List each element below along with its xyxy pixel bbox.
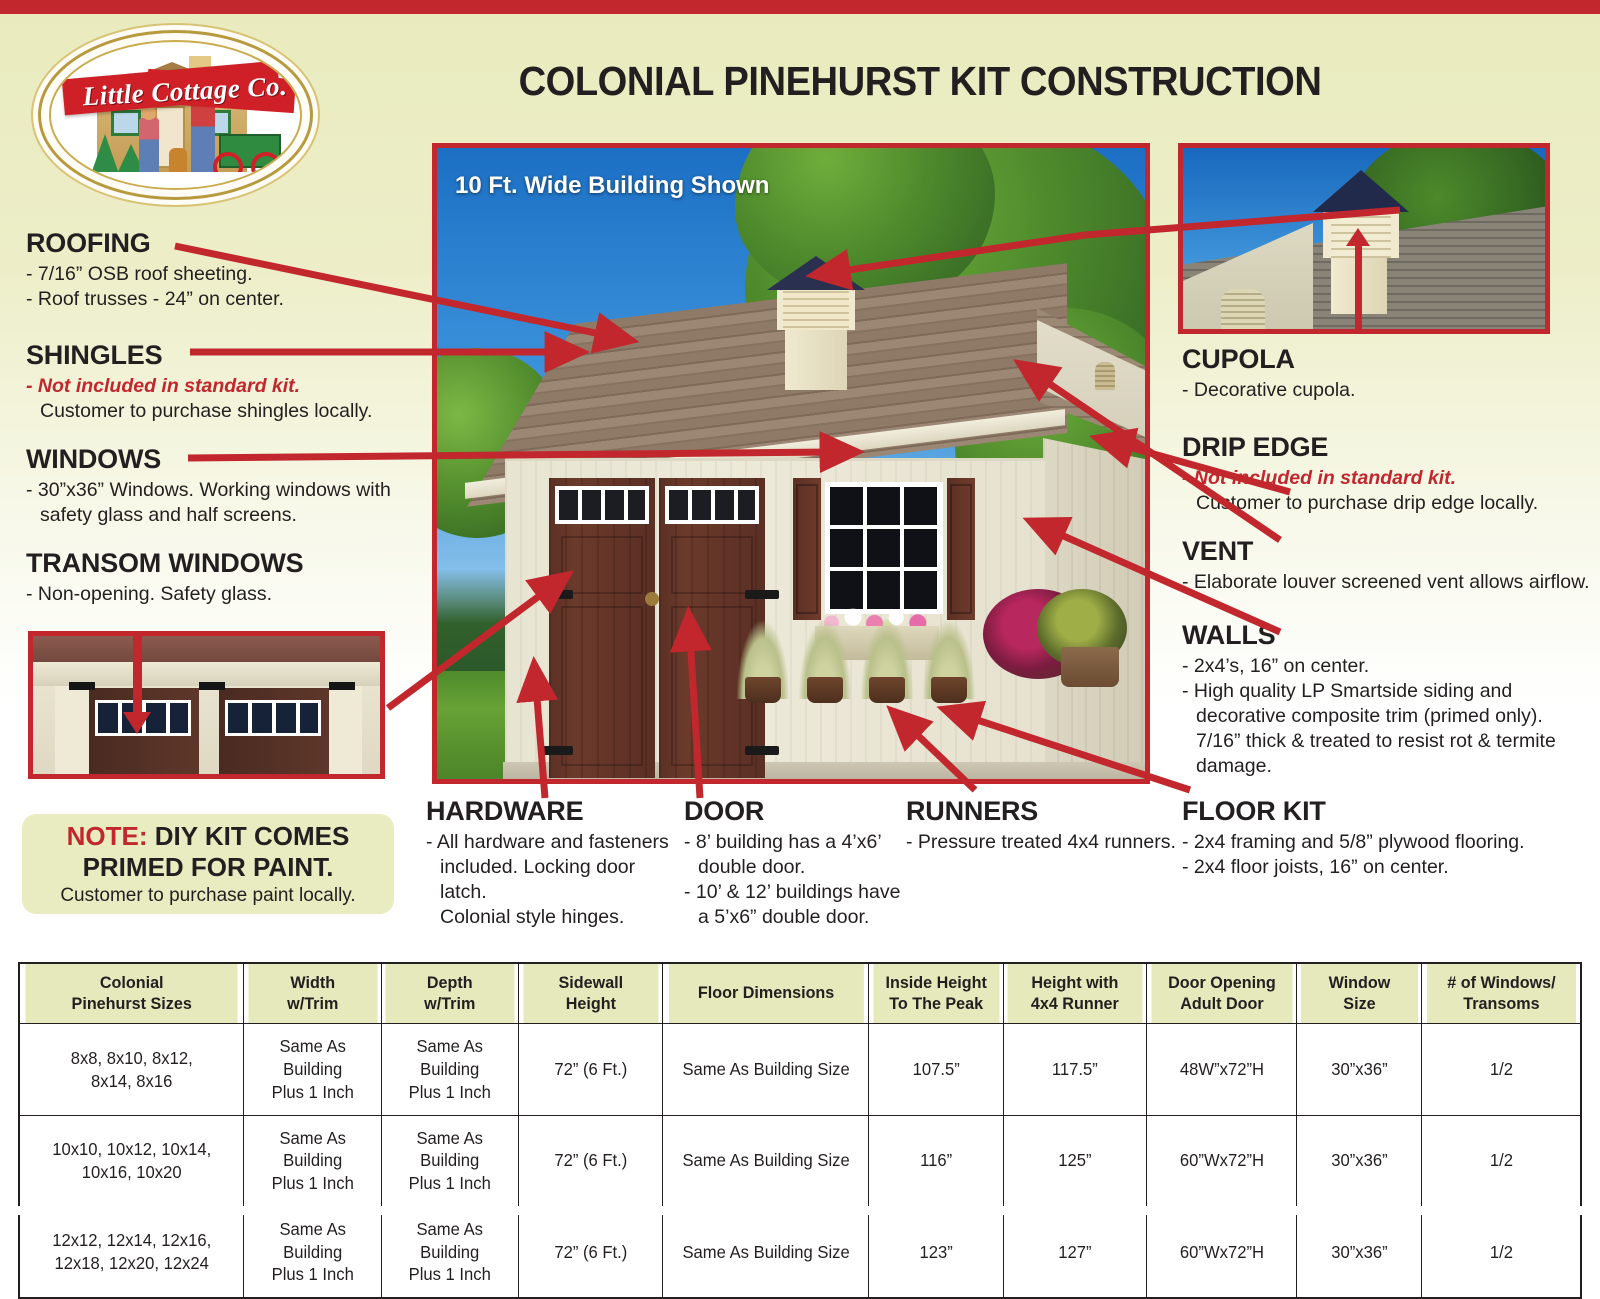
table-header-row: ColonialPinehurst SizesWidthw/TrimDepthw… xyxy=(19,963,1581,1024)
table-cell-r0-c8: 30”x36” xyxy=(1300,1024,1419,1115)
table-cell-r1-c4: Same As Building Size xyxy=(668,1115,864,1206)
callout-transom-windows: TRANSOM WINDOWS - Non-opening. Safety gl… xyxy=(26,548,416,607)
callout-drip-edge: DRIP EDGE - Not included in standard kit… xyxy=(1182,432,1582,516)
double-door xyxy=(549,478,769,778)
table-cell-r1-c8: 30”x36” xyxy=(1300,1115,1419,1206)
working-window xyxy=(825,482,943,614)
gable-louver-vent xyxy=(1095,362,1115,390)
colonial-pinehurst-shed-photo: 10 Ft. Wide Building Shown xyxy=(432,143,1150,784)
table-cell-r1-c0: 10x10, 10x12, 10x14,10x16, 10x20 xyxy=(25,1115,239,1206)
callout-walls: WALLS - 2x4’s, 16” on center. - High qua… xyxy=(1182,620,1582,779)
callout-roofing: ROOFING - 7/16” OSB roof sheeting. - Roo… xyxy=(26,228,406,312)
page-root: Little Cottage Co. COLONIAL PINEHURST KI… xyxy=(0,0,1600,1215)
table-cell-r1-c1: Same As BuildingPlus 1 Inch xyxy=(247,1115,378,1206)
note-headline-2: PRIMED FOR PAINT. xyxy=(83,852,334,883)
table-cell-r2-c9: 1/2 xyxy=(1426,1206,1577,1298)
callout-door: DOOR - 8’ building has a 4’x6’ double do… xyxy=(684,796,914,930)
cupola xyxy=(767,256,865,290)
table-cell-r1-c7: 60”Wx72”H xyxy=(1150,1115,1292,1206)
note-box: NOTE: DIY KIT COMES PRIMED FOR PAINT. Cu… xyxy=(22,814,394,914)
table-header-cell-7: Door OpeningAdult Door xyxy=(1150,963,1292,1024)
page-title: COLONIAL PINEHURST KIT CONSTRUCTION xyxy=(455,58,1385,105)
table-cell-r2-c5: 123” xyxy=(872,1206,1000,1298)
table-header-cell-6: Height with4x4 Runner xyxy=(1007,963,1144,1024)
callout-runners: RUNNERS - Pressure treated 4x4 runners. xyxy=(906,796,1176,855)
table-cell-r1-c9: 1/2 xyxy=(1426,1115,1577,1206)
window-shutter xyxy=(793,478,821,620)
cupola xyxy=(1313,170,1409,212)
note-label: NOTE: xyxy=(67,821,148,851)
table-cell-r0-c7: 48W”x72”H xyxy=(1150,1024,1292,1115)
table-row: 12x12, 12x14, 12x16,12x18, 12x20, 12x24S… xyxy=(19,1206,1581,1298)
transom-window xyxy=(555,486,649,524)
callout-hardware: HARDWARE - All hardware and fasteners in… xyxy=(426,796,676,930)
cupola-closeup-photo xyxy=(1178,143,1550,334)
table-cell-r2-c0: 12x12, 12x14, 12x16,12x18, 12x20, 12x24 xyxy=(25,1206,239,1298)
table-cell-r0-c3: 72” (6 Ft.) xyxy=(522,1024,659,1115)
table-cell-r2-c1: Same As BuildingPlus 1 Inch xyxy=(247,1206,378,1298)
gable-louver-vent xyxy=(1221,289,1265,329)
table-cell-r1-c2: Same As BuildingPlus 1 Inch xyxy=(385,1115,516,1206)
note-headline: NOTE: DIY KIT COMES xyxy=(67,821,350,852)
table-cell-r1-c5: 116” xyxy=(872,1115,1000,1206)
table-cell-r2-c3: 72” (6 Ft.) xyxy=(522,1206,659,1298)
bottom-bar xyxy=(0,1206,1600,1215)
callout-cupola: CUPOLA - Decorative cupola. xyxy=(1182,344,1582,403)
table-cell-r2-c2: Same As BuildingPlus 1 Inch xyxy=(385,1206,516,1298)
table-cell-r0-c6: 117.5” xyxy=(1007,1024,1144,1115)
specifications-table: ColonialPinehurst SizesWidthw/TrimDepthw… xyxy=(18,962,1582,1299)
table-header-cell-1: Widthw/Trim xyxy=(247,963,378,1024)
callout-floor-kit: FLOOR KIT - 2x4 framing and 5/8” plywood… xyxy=(1182,796,1582,880)
cupola-pointer-arrow xyxy=(1355,244,1362,334)
note-headline-text: DIY KIT COMES xyxy=(148,821,350,851)
table-header-cell-5: Inside HeightTo The Peak xyxy=(872,963,1000,1024)
transom-window xyxy=(665,486,759,524)
table-header-cell-4: Floor Dimensions xyxy=(668,963,864,1024)
table-cell-r0-c2: Same As BuildingPlus 1 Inch xyxy=(385,1024,516,1115)
table-cell-r1-c3: 72” (6 Ft.) xyxy=(522,1115,659,1206)
transom-window xyxy=(225,700,321,736)
table-cell-r0-c5: 107.5” xyxy=(872,1024,1000,1115)
door-latch xyxy=(645,592,659,606)
table-cell-r0-c4: Same As Building Size xyxy=(668,1024,864,1115)
transom-pointer-arrow xyxy=(133,631,142,714)
table-row: 10x10, 10x12, 10x14,10x16, 10x20Same As … xyxy=(19,1115,1581,1206)
table-header-cell-2: Depthw/Trim xyxy=(385,963,516,1024)
callout-shingles: SHINGLES - Not included in standard kit.… xyxy=(26,340,406,424)
table-cell-r0-c1: Same As BuildingPlus 1 Inch xyxy=(247,1024,378,1115)
callout-vent: VENT - Elaborate louver screened vent al… xyxy=(1182,536,1592,595)
little-cottage-co-logo: Little Cottage Co. xyxy=(38,30,313,200)
logo-illustration: Little Cottage Co. xyxy=(51,42,300,188)
top-accent-bar xyxy=(0,0,1600,14)
photo-caption: 10 Ft. Wide Building Shown xyxy=(455,172,769,200)
table-cell-r1-c6: 125” xyxy=(1007,1115,1144,1206)
table-header-cell-3: SidewallHeight xyxy=(522,963,659,1024)
note-subtext: Customer to purchase paint locally. xyxy=(60,885,355,907)
table-header-cell-8: WindowSize xyxy=(1300,963,1419,1024)
table-header-cell-9: # of Windows/Transoms xyxy=(1426,963,1577,1024)
table-cell-r0-c9: 1/2 xyxy=(1426,1024,1577,1115)
table-cell-r2-c8: 30”x36” xyxy=(1300,1206,1419,1298)
table-cell-r2-c7: 60”Wx72”H xyxy=(1150,1206,1292,1298)
window-shutter xyxy=(947,478,975,620)
callout-windows: WINDOWS - 30”x36” Windows. Working windo… xyxy=(26,444,416,528)
table-cell-r2-c6: 127” xyxy=(1007,1206,1144,1298)
table-cell-r0-c0: 8x8, 8x10, 8x12,8x14, 8x16 xyxy=(25,1024,239,1115)
table-cell-r2-c4: Same As Building Size xyxy=(668,1206,864,1298)
transom-windows-closeup-photo xyxy=(28,631,385,779)
table-row: 8x8, 8x10, 8x12,8x14, 8x16Same As Buildi… xyxy=(19,1024,1581,1115)
table-header-cell-0: ColonialPinehurst Sizes xyxy=(25,963,239,1024)
